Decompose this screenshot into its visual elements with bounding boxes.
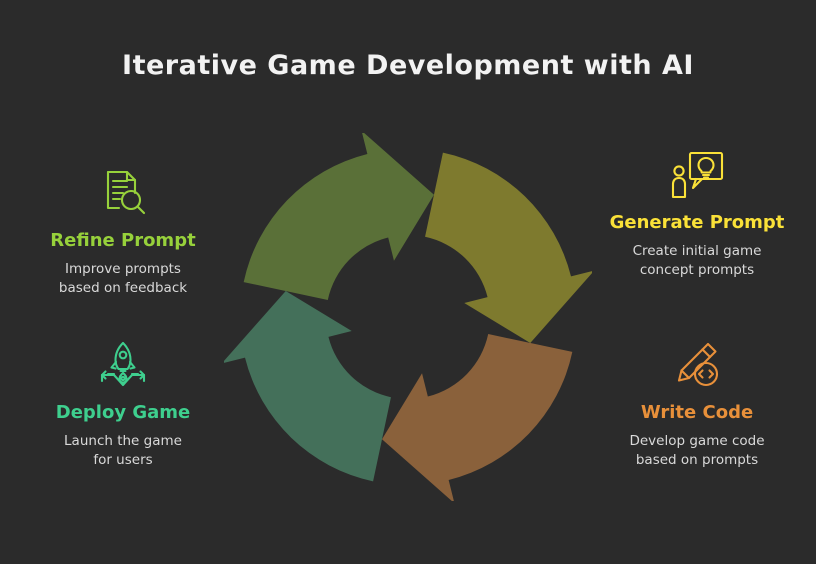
step-write-code-title: Write Code bbox=[592, 402, 802, 423]
step-deploy-game-desc-line-1: Launch the game bbox=[18, 432, 228, 451]
pencil-code-icon bbox=[592, 334, 802, 396]
step-write-code-description: Develop game code based on prompts bbox=[592, 432, 802, 469]
step-refine-prompt-desc-line-2: based on feedback bbox=[18, 279, 228, 298]
cycle-diagram bbox=[224, 133, 592, 501]
rocket-launch-icon bbox=[18, 334, 228, 396]
infographic-canvas: Iterative Game Development with AI Refin… bbox=[0, 0, 816, 564]
cycle-segment-write-code[interactable] bbox=[382, 334, 572, 501]
document-magnifier-icon bbox=[18, 162, 228, 224]
cycle-segment-deploy-game[interactable] bbox=[224, 291, 391, 481]
step-refine-prompt-desc-line-1: Improve prompts bbox=[18, 260, 228, 279]
step-write-code-desc-line-1: Develop game code bbox=[592, 432, 802, 451]
cycle-diagram-svg bbox=[224, 133, 592, 501]
step-deploy-game[interactable]: Deploy Game Launch the game for users bbox=[18, 334, 228, 469]
cycle-segment-refine-prompt[interactable] bbox=[244, 133, 434, 300]
step-generate-prompt[interactable]: Generate Prompt Create initial game conc… bbox=[592, 144, 802, 279]
page-title: Iterative Game Development with AI bbox=[0, 50, 816, 81]
step-refine-prompt[interactable]: Refine Prompt Improve prompts based on f… bbox=[18, 162, 228, 297]
cycle-segment-generate-prompt[interactable] bbox=[425, 153, 592, 343]
step-generate-prompt-description: Create initial game concept prompts bbox=[592, 242, 802, 279]
step-deploy-game-desc-line-2: for users bbox=[18, 451, 228, 470]
step-generate-prompt-desc-line-2: concept prompts bbox=[592, 261, 802, 280]
step-refine-prompt-description: Improve prompts based on feedback bbox=[18, 260, 228, 297]
step-deploy-game-description: Launch the game for users bbox=[18, 432, 228, 469]
step-deploy-game-title: Deploy Game bbox=[18, 402, 228, 423]
person-speech-bubble-lightbulb-icon bbox=[592, 144, 802, 206]
step-write-code-desc-line-2: based on prompts bbox=[592, 451, 802, 470]
step-generate-prompt-desc-line-1: Create initial game bbox=[592, 242, 802, 261]
step-refine-prompt-title: Refine Prompt bbox=[18, 230, 228, 251]
step-generate-prompt-title: Generate Prompt bbox=[592, 212, 802, 233]
step-write-code[interactable]: Write Code Develop game code based on pr… bbox=[592, 334, 802, 469]
